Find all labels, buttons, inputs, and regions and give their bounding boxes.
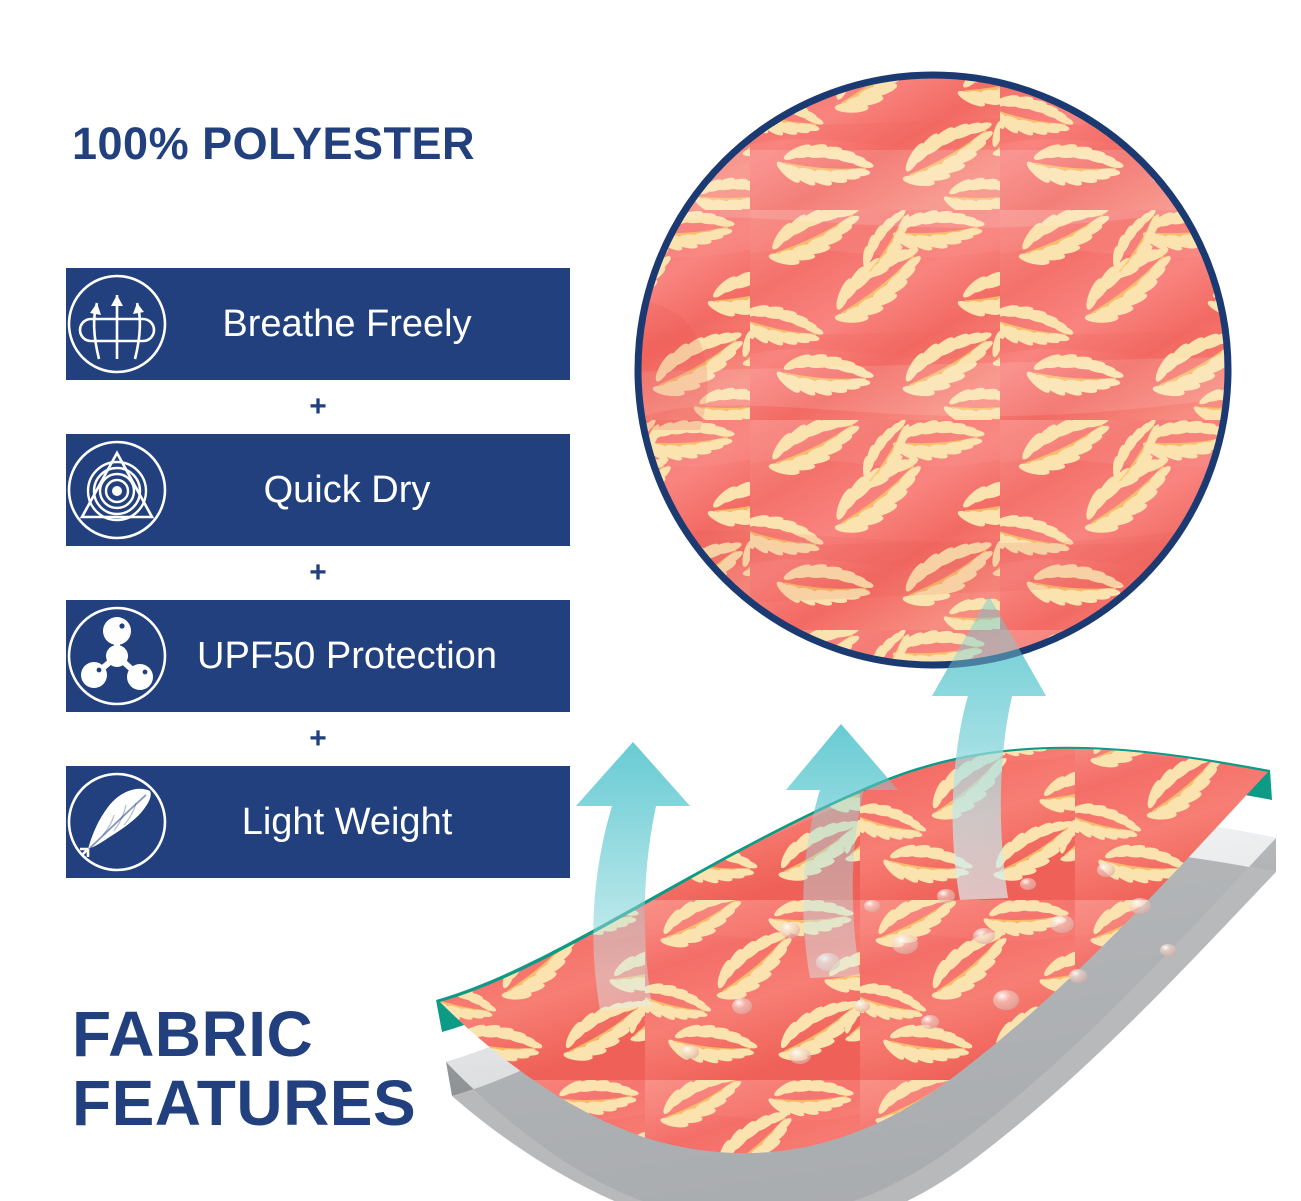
separator-plus: + (66, 558, 570, 588)
breathability-arrows-front (576, 596, 1046, 1010)
airflow-icon (58, 265, 176, 383)
fabric-zoom-circle (630, 65, 1260, 685)
feather-icon (58, 763, 176, 881)
swatch-base-layer (446, 813, 1276, 1201)
water-droplets (681, 863, 1176, 1064)
feature-bar-quick-dry[interactable]: Quick Dry (66, 434, 570, 546)
molecule-icon (58, 597, 176, 715)
breathability-arrow-middle (786, 724, 898, 978)
breathability-arrow-left (576, 742, 690, 1010)
page-headline: 100% POLYESTER (72, 118, 475, 170)
separator-plus: + (66, 392, 570, 422)
separator-plus: + (66, 724, 570, 754)
feature-bar-light-weight[interactable]: Light Weight (66, 766, 570, 878)
feature-bar-breathe[interactable]: Breathe Freely (66, 268, 570, 380)
page-title: FABRIC FEATURES (72, 1000, 416, 1138)
feature-bar-upf50[interactable]: UPF50 Protection (66, 600, 570, 712)
breathability-arrows-back (576, 596, 1046, 1010)
page-title-line1: FABRIC (72, 1000, 416, 1069)
quick-dry-icon (58, 431, 176, 549)
page-title-line2: FEATURES (72, 1069, 416, 1138)
infographic-canvas: 100% POLYESTER Breathe Freely + (0, 0, 1301, 1201)
breathability-arrow-right (932, 596, 1046, 900)
